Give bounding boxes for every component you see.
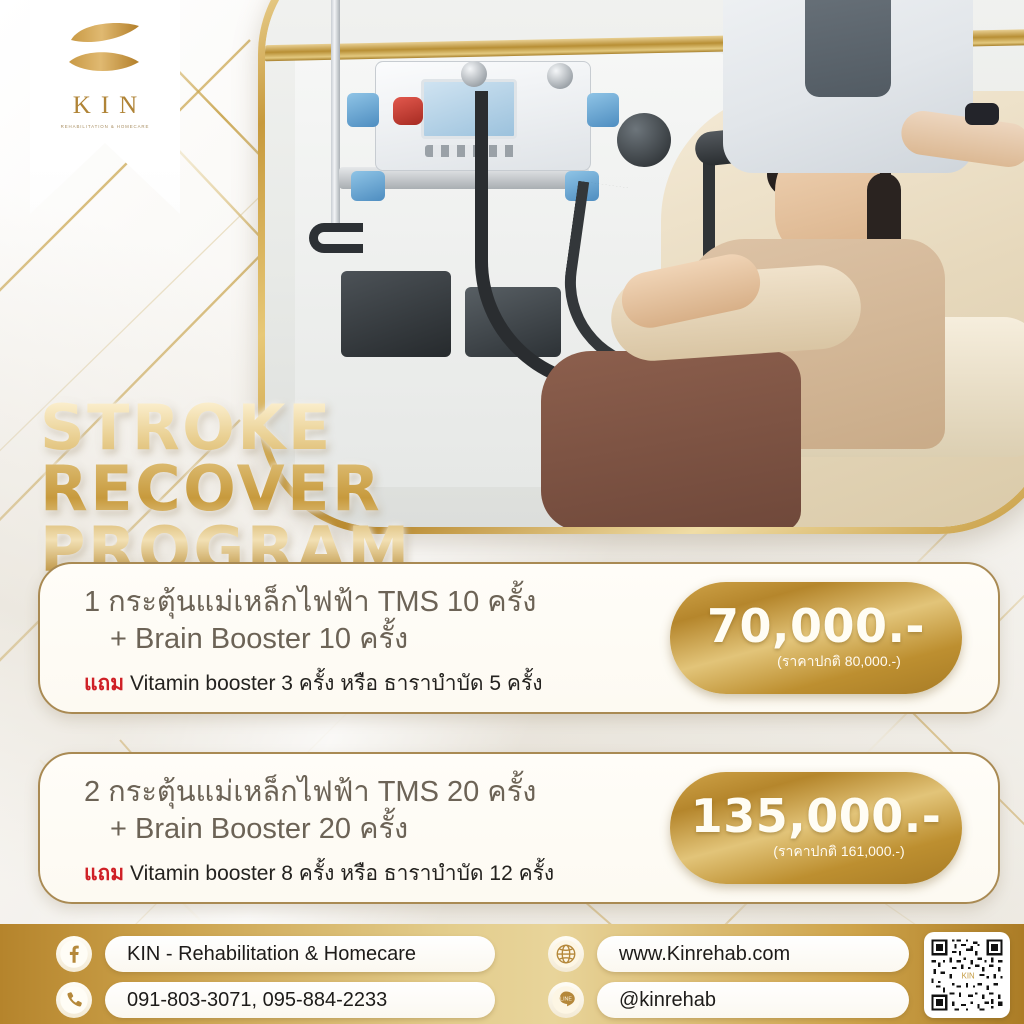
package-1-line-1: 1 กระตุ้นแม่เหล็กไฟฟ้า TMS 10 ครั้ง	[84, 584, 684, 621]
package-2-bonus: แถม Vitamin booster 8 ครั้ง หรือ ธาราบำบ…	[84, 857, 684, 890]
footer-website-row[interactable]: www.Kinrehab.com	[548, 936, 909, 972]
footer-contact-right: www.Kinrehab.com LINE @kinrehab	[548, 936, 909, 1018]
facebook-icon[interactable]	[56, 936, 92, 972]
package-1-bonus-label: แถม	[84, 672, 124, 695]
brand-name: KIN	[63, 92, 147, 120]
package-1-price-badge: 70,000.- (ราคาปกติ 80,000.-)	[670, 582, 962, 694]
package-card-2[interactable]: 2 กระตุ้นแม่เหล็กไฟฟ้า TMS 20 ครั้ง + Br…	[38, 752, 1000, 904]
phone-icon[interactable]	[56, 982, 92, 1018]
brand-ribbon: KIN REHABILITATION & HOMECARE	[30, 0, 180, 214]
package-1-price: 70,000.-	[707, 603, 925, 649]
package-1-text: 1 กระตุ้นแม่เหล็กไฟฟ้า TMS 10 ครั้ง + Br…	[84, 584, 684, 700]
package-2-bonus-text: Vitamin booster 8 ครั้ง หรือ ธาราบำบัด 1…	[130, 862, 554, 885]
facebook-name[interactable]: KIN - Rehabilitation & Homecare	[105, 936, 495, 972]
website-url[interactable]: www.Kinrehab.com	[597, 936, 909, 972]
brand-tagline: REHABILITATION & HOMECARE	[61, 124, 150, 129]
poster-root: KIN REHABILITATION & HOMECARE	[0, 0, 1024, 1024]
package-2-bonus-label: แถม	[84, 862, 124, 885]
footer-line-row[interactable]: LINE @kinrehab	[548, 982, 909, 1018]
svg-text:LINE: LINE	[560, 997, 572, 1003]
package-2-price: 135,000.-	[691, 793, 942, 839]
line-chat-icon[interactable]: LINE	[548, 982, 584, 1018]
package-1-bonus-text: Vitamin booster 3 ครั้ง หรือ ธาราบำบัด 5…	[130, 672, 543, 695]
package-2-text: 2 กระตุ้นแม่เหล็กไฟฟ้า TMS 20 ครั้ง + Br…	[84, 774, 684, 890]
footer-contact-left: KIN - Rehabilitation & Homecare 091-803-…	[56, 936, 495, 1018]
package-2-line-1: 2 กระตุ้นแม่เหล็กไฟฟ้า TMS 20 ครั้ง	[84, 774, 684, 811]
package-card-1[interactable]: 1 กระตุ้นแม่เหล็กไฟฟ้า TMS 10 ครั้ง + Br…	[38, 562, 1000, 714]
package-1-bonus: แถม Vitamin booster 3 ครั้ง หรือ ธาราบำบ…	[84, 667, 684, 700]
footer-facebook-row[interactable]: KIN - Rehabilitation & Homecare	[56, 936, 495, 972]
package-2-normal-price: (ราคาปกติ 161,000.-)	[773, 841, 904, 863]
svg-text:KIN: KIN	[962, 971, 975, 980]
globe-icon[interactable]	[548, 936, 584, 972]
page-title: STROKE RECOVER PROGRAM	[40, 398, 660, 580]
package-1-line-2: + Brain Booster 10 ครั้ง	[84, 621, 684, 658]
headline-line-1: STROKE RECOVER	[40, 391, 382, 525]
package-2-price-badge: 135,000.- (ราคาปกติ 161,000.-)	[670, 772, 962, 884]
package-1-normal-price: (ราคาปกติ 80,000.-)	[777, 651, 901, 673]
phone-number[interactable]: 091-803-3071, 095-884-2233	[105, 982, 495, 1018]
kin-brush-logo-icon	[59, 18, 151, 80]
footer-phone-row[interactable]: 091-803-3071, 095-884-2233	[56, 982, 495, 1018]
line-id[interactable]: @kinrehab	[597, 982, 909, 1018]
qr-code[interactable]: KIN	[924, 932, 1010, 1018]
package-2-line-2: + Brain Booster 20 ครั้ง	[84, 811, 684, 848]
